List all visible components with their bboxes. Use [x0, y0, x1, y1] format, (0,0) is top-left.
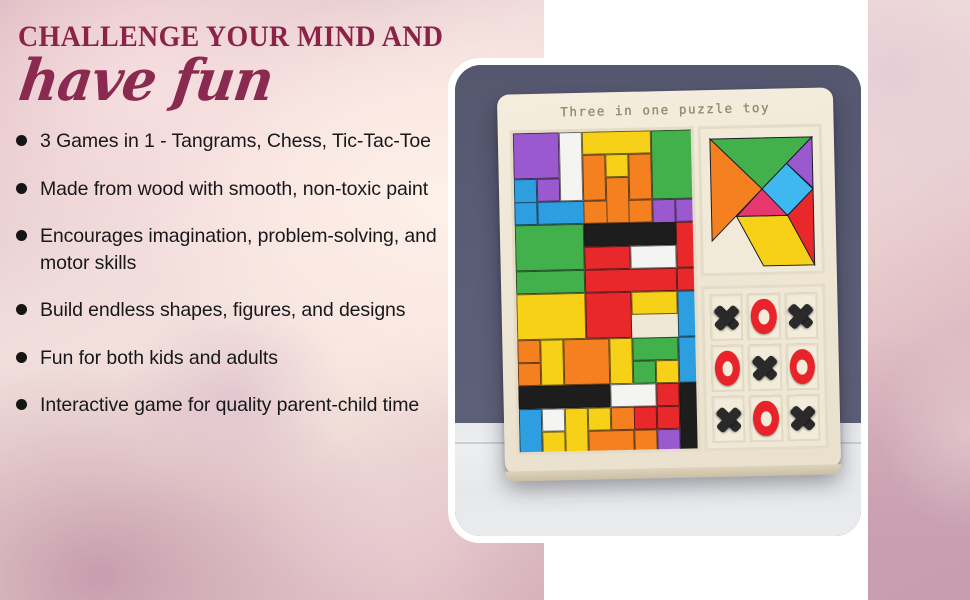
ttt-cell-1-0[interactable]: [710, 344, 744, 392]
ttt-cell-1-2[interactable]: [785, 343, 819, 391]
puzzle-block: [609, 338, 633, 384]
x-piece-icon: [752, 349, 778, 385]
list-item: Fun for both kids and adults: [8, 345, 440, 372]
headline-script: have fun: [15, 46, 277, 114]
puzzle-block: [677, 267, 700, 290]
ttt-cell-2-0[interactable]: [712, 395, 746, 443]
puzzle-block: [630, 245, 676, 269]
puzzle-block: [651, 129, 698, 199]
list-item: Made from wood with smooth, non-toxic pa…: [8, 176, 440, 203]
puzzle-block: [585, 292, 632, 339]
puzzle-block: [565, 408, 589, 454]
puzzle-block: [537, 178, 560, 201]
puzzle-block: [628, 153, 652, 199]
puzzle-block: [634, 429, 657, 452]
x-piece-icon: [790, 399, 816, 435]
puzzle-board: Three in one puzzle toy: [497, 87, 841, 474]
engraved-title: Three in one puzzle toy: [497, 98, 833, 120]
puzzle-block: [678, 336, 701, 382]
feature-text: Fun for both kids and adults: [40, 345, 278, 372]
puzzle-block: [542, 431, 565, 454]
puzzle-block: [514, 202, 537, 225]
o-piece-icon: [753, 400, 779, 436]
feature-text: Encourages imagination, problem-solving,…: [40, 223, 440, 276]
ttt-cell-0-0[interactable]: [709, 293, 743, 341]
list-item: Interactive game for quality parent-chil…: [8, 392, 440, 419]
ttt-cell-0-2[interactable]: [784, 292, 818, 340]
puzzle-block: [679, 382, 701, 451]
tetromino-panel: [510, 126, 701, 455]
puzzle-block: [519, 409, 543, 455]
background-bokeh-3: [880, 330, 970, 530]
x-piece-icon: [713, 299, 739, 335]
x-piece-icon: [788, 297, 814, 333]
puzzle-block: [656, 383, 679, 406]
puzzle-block: [633, 360, 656, 383]
puzzle-block: [675, 198, 698, 221]
puzzle-block: [540, 339, 564, 385]
bullet-dot-icon: [16, 135, 27, 146]
list-item: 3 Games in 1 - Tangrams, Chess, Tic-Tac-…: [8, 128, 440, 155]
puzzle-block: [517, 340, 540, 363]
puzzle-block: [588, 407, 611, 430]
bullet-dot-icon: [16, 352, 27, 363]
feature-text: 3 Games in 1 - Tangrams, Chess, Tic-Tac-…: [40, 128, 431, 155]
feature-text: Interactive game for quality parent-chil…: [40, 392, 419, 419]
bullet-dot-icon: [16, 399, 27, 410]
puzzle-block: [657, 406, 680, 429]
puzzle-block: [585, 268, 677, 293]
list-item: Build endless shapes, figures, and desig…: [8, 297, 440, 324]
o-piece-icon: [789, 348, 815, 384]
puzzle-block: [513, 132, 560, 179]
tic-tac-toe-panel: [701, 284, 829, 452]
puzzle-block: [518, 363, 541, 386]
tetromino-mosaic: [513, 129, 698, 452]
puzzle-block: [515, 224, 585, 271]
product-photo-card: Three in one puzzle toy: [448, 58, 868, 543]
puzzle-block: [584, 222, 676, 247]
puzzle-block: [584, 246, 630, 270]
puzzle-block: [588, 430, 634, 454]
copy-column: Challenge Your Mind and have fun 3 Games…: [0, 0, 440, 600]
ttt-cell-0-1[interactable]: [747, 293, 781, 341]
puzzle-block: [518, 384, 610, 409]
tic-tac-toe-grid: [709, 292, 820, 443]
puzzle-block: [676, 221, 700, 267]
ttt-cell-2-2[interactable]: [786, 394, 820, 442]
tangram-panel: [698, 124, 825, 277]
feature-list: 3 Games in 1 - Tangrams, Chess, Tic-Tac-…: [8, 128, 440, 440]
promo-banner: Challenge Your Mind and have fun 3 Games…: [0, 0, 970, 600]
puzzle-block: [542, 408, 565, 431]
ttt-cell-2-1[interactable]: [749, 395, 783, 443]
puzzle-block: [631, 291, 677, 315]
bullet-dot-icon: [16, 230, 27, 241]
puzzle-block: [605, 154, 628, 177]
x-piece-icon: [716, 401, 742, 437]
feature-text: Build endless shapes, figures, and desig…: [40, 297, 405, 324]
o-piece-icon: [751, 298, 777, 334]
feature-text: Made from wood with smooth, non-toxic pa…: [40, 176, 428, 203]
puzzle-block: [516, 293, 586, 340]
ttt-cell-1-1[interactable]: [748, 344, 782, 392]
puzzle-block: [632, 337, 678, 361]
puzzle-block: [559, 132, 583, 201]
puzzle-block: [677, 290, 701, 336]
puzzle-block: [656, 360, 679, 383]
puzzle-block: [563, 338, 610, 385]
product-photo: Three in one puzzle toy: [455, 65, 861, 536]
bullet-dot-icon: [16, 183, 27, 194]
puzzle-block: [610, 383, 656, 407]
puzzle-block: [657, 429, 680, 452]
puzzle-block: [516, 270, 585, 294]
tangram-pieces: [706, 132, 819, 272]
puzzle-block: [606, 177, 630, 223]
puzzle-block: [582, 154, 606, 200]
bullet-dot-icon: [16, 304, 27, 315]
puzzle-block: [634, 406, 657, 429]
o-piece-icon: [715, 350, 741, 386]
list-item: Encourages imagination, problem-solving,…: [8, 223, 440, 276]
puzzle-block: [582, 130, 651, 154]
